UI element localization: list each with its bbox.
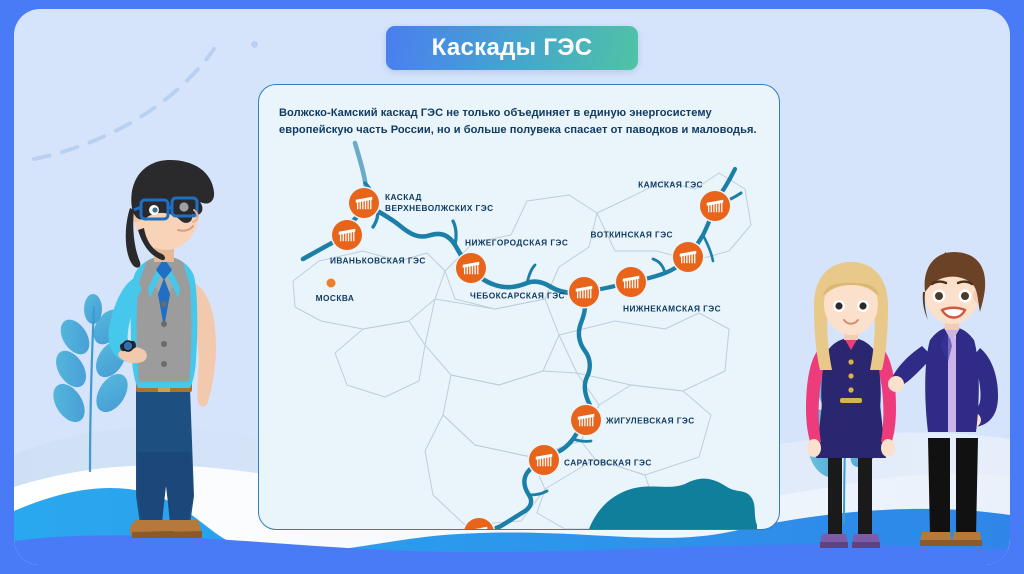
plant-label-zhigulevskaya: ЖИГУЛЕВСКАЯ ГЭС xyxy=(606,416,695,427)
plant-marker-nizhnekamskaya[interactable] xyxy=(616,267,646,297)
slide-stage: Каскады ГЭС Волжско-Камский каскад ГЭС н… xyxy=(0,0,1024,574)
plant-marker-zhigulevskaya[interactable] xyxy=(571,405,601,435)
dam-icon xyxy=(706,199,724,214)
plant-label-verkhnevolzhsky: КАСКАД ВЕРХНЕВОЛЖСКИХ ГЭС xyxy=(385,192,494,214)
plant-marker-nizhegorodskaya[interactable] xyxy=(456,253,486,283)
dam-icon xyxy=(577,413,595,428)
city-dot-icon xyxy=(327,279,336,288)
plant-label-kamskaya: КАМСКАЯ ГЭС xyxy=(638,180,703,191)
plant-label-volzhskaya: ВОЛЖСКАЯ ГЭС xyxy=(499,529,571,530)
dam-icon xyxy=(355,196,373,211)
plant-label-nizhnekamskaya: НИЖНЕКАМСКАЯ ГЭС xyxy=(623,304,721,315)
plant-label-votkinskaya: ВОТКИНСКАЯ ГЭС xyxy=(590,230,673,241)
dam-icon xyxy=(470,526,488,531)
plant-label-nizhegorodskaya: НИЖЕГОРОДСКАЯ ГЭС xyxy=(465,238,568,249)
dam-icon xyxy=(338,228,356,243)
plant-label-saratovskaya: САРАТОВСКАЯ ГЭС xyxy=(564,458,652,469)
plant-label-cheboksarskaya: ЧЕБОКСАРСКАЯ ГЭС xyxy=(470,291,565,302)
plant-label-ivankovskaya: ИВАНЬКОВСКАЯ ГЭС xyxy=(330,256,426,267)
dam-icon xyxy=(462,261,480,276)
caspian-sea xyxy=(589,479,757,530)
dam-icon xyxy=(535,453,553,468)
page-title: Каскады ГЭС xyxy=(432,34,593,62)
leaf-branch-icon xyxy=(42,293,138,473)
plant-marker-cheboksarskaya[interactable] xyxy=(569,277,599,307)
city-label-moscow: МОСКВА xyxy=(316,293,355,303)
dam-icon xyxy=(575,285,593,300)
plant-marker-kamskaya[interactable] xyxy=(700,191,730,221)
plant-marker-saratovskaya[interactable] xyxy=(529,445,559,475)
dam-icon xyxy=(622,275,640,290)
dot-decoration-icon xyxy=(251,41,258,48)
dam-icon xyxy=(679,250,697,265)
slide-title-pill: Каскады ГЭС xyxy=(386,26,638,70)
leaf-branch-icon xyxy=(796,355,892,525)
map-card: Волжско-Камский каскад ГЭС не только объ… xyxy=(258,84,780,530)
plant-marker-votkinskaya[interactable] xyxy=(673,242,703,272)
plant-marker-verkhnevolzhsky[interactable] xyxy=(349,188,379,218)
plant-marker-ivankovskaya[interactable] xyxy=(332,220,362,250)
